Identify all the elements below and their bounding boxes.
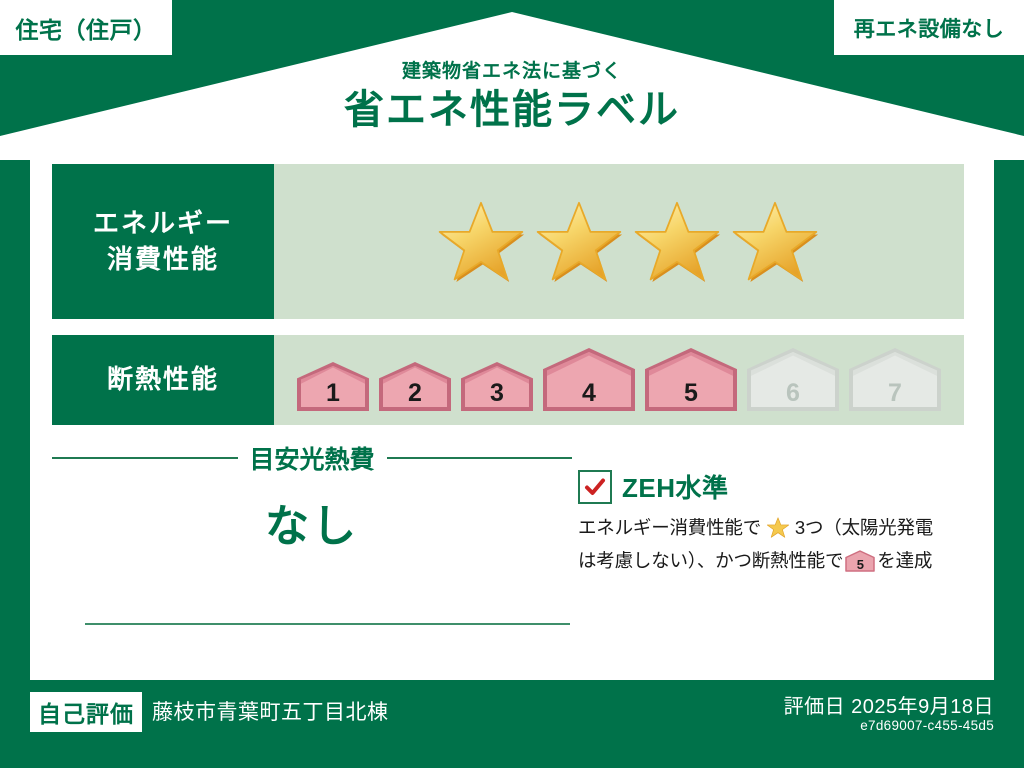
- zeh-description: エネルギー消費性能で 3つ（太陽光発電 は考慮しない）、かつ断熱性能で 5 を達…: [578, 514, 973, 575]
- utility-cost-underline: [85, 623, 570, 625]
- insulation-scale: 1234567: [294, 346, 944, 414]
- insulation-level-number: 7: [846, 379, 944, 408]
- row-insulation-performance: 断熱性能 1234567: [52, 335, 964, 425]
- divider-left: [52, 457, 238, 459]
- zeh-section: ZEH水準 エネルギー消費性能で 3つ（太陽光発電 は考慮しない）、かつ断熱性能…: [578, 468, 973, 575]
- badge-renewable-energy: 再エネ設備なし: [834, 0, 1024, 55]
- title-subtitle: 建築物省エネ法に基づく: [0, 62, 1024, 81]
- insulation-level-house: 1: [294, 360, 372, 414]
- star-icon-inline: [762, 521, 794, 542]
- insulation-level-number: 3: [458, 379, 536, 408]
- insulation-level-number: 1: [294, 379, 372, 408]
- badge-building-type: 住宅（住戸）: [0, 0, 172, 55]
- evaluation-id: e7d69007-c455-45d5: [860, 718, 994, 733]
- utility-cost-value: なし: [52, 490, 572, 554]
- row-insulation-label: 断熱性能: [52, 335, 274, 425]
- insulation-level-house: 7: [846, 346, 944, 414]
- insulation-level-house: 5: [642, 346, 740, 414]
- insulation-level-number: 6: [744, 379, 842, 408]
- row-energy-label-line1: エネルギー: [93, 206, 233, 241]
- label-card: エネルギー 消費性能 断熱性能 1234567 目安光熱費 なし: [30, 150, 994, 678]
- row-energy-label-line2: 消費性能: [107, 242, 219, 277]
- insulation-level-house: 2: [376, 360, 454, 414]
- star-icon-filled: [535, 200, 623, 284]
- insulation-level-number: 5: [642, 379, 740, 408]
- house-icon-inline: 5: [845, 550, 875, 572]
- insulation-level-house: 3: [458, 360, 536, 414]
- zeh-title: ZEH水準: [622, 468, 729, 505]
- row-insulation-value: 1234567: [274, 335, 964, 425]
- insulation-level-number: 2: [376, 379, 454, 408]
- insulation-level-house: 6: [744, 346, 842, 414]
- insulation-level-house: 4: [540, 346, 638, 414]
- star-icon-filled: [731, 200, 819, 284]
- row-energy-performance: エネルギー 消費性能: [52, 164, 964, 319]
- footer: 自己評価 藤枝市青葉町五丁目北棟 評価日 2025年9月18日 e7d69007…: [0, 678, 1024, 768]
- row-insulation-label-line1: 断熱性能: [107, 362, 219, 397]
- self-evaluation-badge: 自己評価: [30, 692, 142, 732]
- energy-performance-label: 住宅（住戸） 再エネ設備なし 建築物省エネ法に基づく 省エネ性能ラベル エネルギ…: [0, 0, 1024, 768]
- star-rating: [437, 200, 819, 284]
- zeh-desc-part1: エネルギー消費性能で: [578, 517, 761, 538]
- star-icon-filled: [633, 200, 721, 284]
- check-icon: [578, 470, 612, 504]
- utility-cost-header: 目安光熱費: [52, 440, 572, 476]
- insulation-level-number: 4: [540, 379, 638, 408]
- zeh-header: ZEH水準: [578, 468, 973, 505]
- zeh-desc-part2: は考慮しない）、かつ断熱性能で: [578, 550, 843, 571]
- star-icon-filled: [437, 200, 525, 284]
- row-energy-label: エネルギー 消費性能: [52, 164, 274, 319]
- property-address: 藤枝市青葉町五丁目北棟: [152, 696, 389, 726]
- divider-right: [387, 457, 573, 459]
- house-icon-inline-number: 5: [845, 558, 875, 571]
- evaluation-date: 評価日 2025年9月18日: [784, 690, 994, 719]
- row-energy-value: [274, 164, 964, 319]
- utility-cost-title: 目安光熱費: [250, 440, 375, 476]
- zeh-desc-star-count: 3つ（太陽光発電: [795, 517, 933, 538]
- zeh-desc-part3: を達成: [877, 550, 932, 571]
- page-title: 省エネ性能ラベル: [0, 87, 1024, 133]
- title-block: 建築物省エネ法に基づく 省エネ性能ラベル: [0, 62, 1024, 133]
